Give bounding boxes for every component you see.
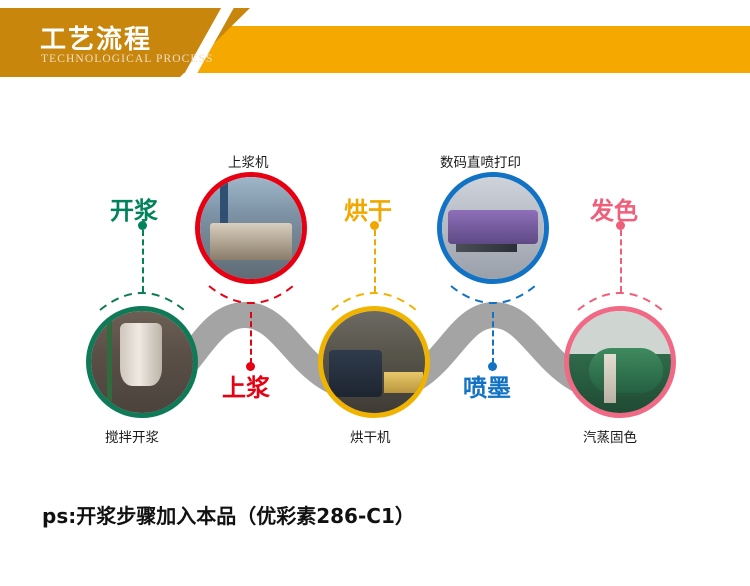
stage-connector-shangjiang bbox=[250, 312, 252, 364]
node-circle-sizing-machine bbox=[195, 172, 307, 284]
node-caption-digital-printer: 数码直喷打印 bbox=[440, 151, 521, 171]
stage-arc-penmo bbox=[447, 282, 539, 316]
stage-label-shangjiang: 上浆 bbox=[222, 368, 270, 403]
stage-arc-honggan bbox=[328, 280, 420, 314]
stage-arc-fase bbox=[574, 280, 666, 314]
stage-label-fase: 发色 bbox=[590, 191, 638, 226]
stage-dot-fase bbox=[616, 221, 625, 230]
page-title: 工艺流程 bbox=[40, 19, 152, 56]
node-caption-mixer: 搅拌开浆 bbox=[105, 426, 159, 446]
stage-connector-penmo bbox=[492, 312, 494, 364]
stage-dot-kaijiang bbox=[138, 221, 147, 230]
node-circle-dryer bbox=[318, 306, 430, 418]
node-circle-digital-printer bbox=[437, 172, 549, 284]
process-flow-diagram: 搅拌开浆 开浆 上浆机 上浆 烘干机 烘干 数码直喷打印 喷墨 汽蒸固色 bbox=[0, 90, 750, 480]
page-header: 工艺流程 TECHNOLOGICAL PROCESS bbox=[0, 0, 750, 90]
stage-dot-honggan bbox=[370, 221, 379, 230]
page-subtitle: TECHNOLOGICAL PROCESS bbox=[41, 53, 214, 65]
footer-note: ps:开浆步骤加入本品（优彩素286-C1） bbox=[42, 500, 415, 529]
stage-arc-kaijiang bbox=[96, 280, 188, 314]
photo-mixer bbox=[91, 311, 193, 413]
node-caption-steamer: 汽蒸固色 bbox=[583, 426, 637, 446]
photo-dryer bbox=[323, 311, 425, 413]
stage-label-honggan: 烘干 bbox=[344, 191, 392, 226]
node-circle-mixer bbox=[86, 306, 198, 418]
stage-label-kaijiang: 开浆 bbox=[110, 191, 158, 226]
stage-arc-shangjiang bbox=[205, 282, 297, 316]
photo-digital-printer bbox=[442, 177, 544, 279]
stage-label-penmo: 喷墨 bbox=[463, 368, 511, 403]
photo-sizing-machine bbox=[200, 177, 302, 279]
node-caption-dryer: 烘干机 bbox=[350, 426, 391, 446]
photo-steamer bbox=[569, 311, 671, 413]
node-circle-steamer bbox=[564, 306, 676, 418]
node-caption-sizing-machine: 上浆机 bbox=[228, 151, 269, 171]
